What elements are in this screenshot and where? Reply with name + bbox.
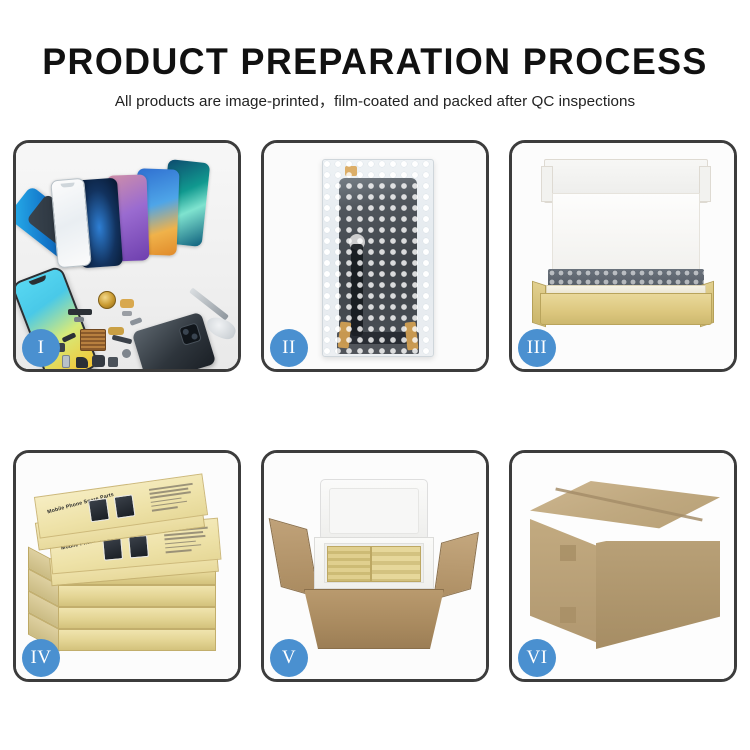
page-title: PRODUCT PREPARATION PROCESS [11,40,739,84]
process-step-panel-4: Mobile Phone Spare Parts Mobile Phone Sp… [13,450,241,682]
process-step-panel-2: II [261,140,489,372]
step-badge-2: II [270,329,308,367]
process-step-panel-6: VI [509,450,737,682]
page-subtitle: All products are image-printed，film-coat… [0,92,750,112]
step-badge-5: V [270,639,308,677]
process-step-panel-1: I [13,140,241,372]
step-badge-3: III [518,329,556,367]
process-step-panel-3: III [509,140,737,372]
step-badge-4: IV [22,639,60,677]
product-preparation-process-page: PRODUCT PREPARATION PROCESS All products… [0,0,750,750]
step-badge-1: I [22,329,60,367]
process-step-panel-5: V [261,450,489,682]
step-badge-6: VI [518,639,556,677]
process-steps-grid: I II [13,140,737,685]
page-header: PRODUCT PREPARATION PROCESS All products… [0,40,750,112]
